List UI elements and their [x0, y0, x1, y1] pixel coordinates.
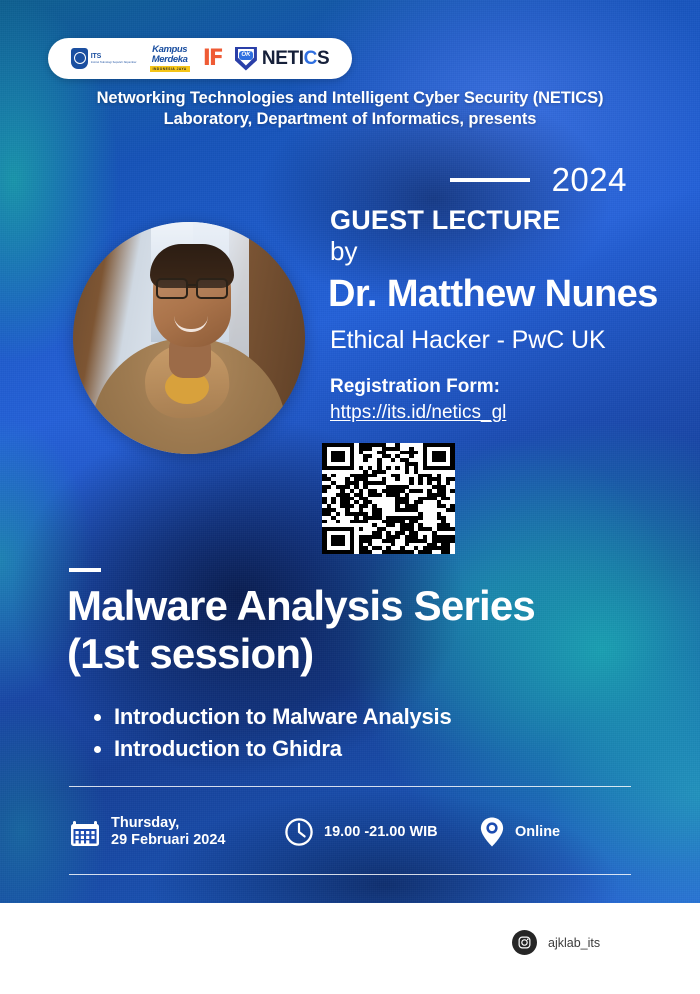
- netics-shield-icon: OK: [235, 47, 257, 71]
- list-item: Introduction to Ghidra: [114, 733, 452, 765]
- year-text: 2024: [552, 163, 627, 196]
- kampus-merdeka-logo: Kampus Merdeka INDONESIA JAYA: [150, 45, 190, 72]
- speaker-role: Ethical Hacker - PwC UK: [330, 325, 606, 355]
- netics-word-c: C: [304, 49, 317, 68]
- netics-logo: OK NETICS: [235, 47, 329, 71]
- registration-link[interactable]: https://its.id/netics_gl: [330, 402, 506, 424]
- instagram-handle[interactable]: ajklab_its: [548, 936, 600, 950]
- organizer-line: Networking Technologies and Intelligent …: [0, 88, 700, 130]
- its-wordmark: ITS Institut Teknologi Sepuluh Nopember: [91, 53, 137, 64]
- list-item: Introduction to Malware Analysis: [114, 701, 452, 733]
- event-info-bar: Thursday, 29 Februari 2024 19.00 -21.00 …: [69, 806, 631, 858]
- its-logo: ITS Institut Teknologi Sepuluh Nopember: [71, 48, 137, 69]
- instagram-row[interactable]: ajklab_its: [512, 930, 600, 955]
- clock-icon: [284, 817, 314, 847]
- its-wordmark-text: ITS: [91, 53, 137, 60]
- registration-label: Registration Form:: [330, 376, 500, 398]
- page-title: Malware Analysis Series (1st session): [67, 582, 667, 678]
- instagram-icon[interactable]: [512, 930, 537, 955]
- event-location-item: Online: [479, 816, 629, 848]
- netics-wordmark: NETICS: [262, 49, 329, 68]
- speaker-name: Dr. Matthew Nunes: [328, 272, 658, 316]
- qr-code-registration[interactable]: [322, 443, 455, 554]
- event-time-text: 19.00 -21.00 WIB: [324, 824, 438, 841]
- if-logo: IF: [203, 48, 222, 70]
- logo-bar: ITS Institut Teknologi Sepuluh Nopember …: [48, 38, 352, 79]
- event-time-item: 19.00 -21.00 WIB: [284, 817, 479, 847]
- netics-word-b: S: [317, 49, 329, 68]
- title-dash-rule: [69, 568, 101, 572]
- event-date-text: Thursday, 29 Februari 2024: [111, 815, 225, 849]
- location-pin-icon: [479, 816, 505, 848]
- kampus-merdeka-tagline: INDONESIA JAYA: [150, 66, 190, 72]
- calendar-icon: [69, 816, 101, 848]
- event-location-text: Online: [515, 824, 560, 841]
- divider-top: [69, 786, 631, 787]
- year-row: 2024: [450, 163, 627, 196]
- its-wordmark-sub: Institut Teknologi Sepuluh Nopember: [91, 61, 137, 64]
- speaker-photo: [73, 222, 305, 454]
- its-seal-icon: [71, 48, 88, 69]
- netics-word-a: NETI: [262, 49, 304, 68]
- footer-strip: ajklab_its: [0, 903, 700, 994]
- divider-bottom: [69, 874, 631, 875]
- by-word: by: [330, 236, 357, 266]
- kampus-merdeka-line2: Merdeka: [152, 55, 188, 65]
- year-dash-rule: [450, 178, 530, 182]
- netics-shield-text: OK: [239, 51, 253, 60]
- poster-canvas: ITS Institut Teknologi Sepuluh Nopember …: [0, 0, 700, 903]
- event-date-item: Thursday, 29 Februari 2024: [69, 815, 284, 849]
- guest-lecture-kicker: GUEST LECTURE: [330, 205, 561, 235]
- topic-list: Introduction to Malware Analysis Introdu…: [88, 701, 452, 765]
- poster-page: ITS Institut Teknologi Sepuluh Nopember …: [0, 0, 700, 994]
